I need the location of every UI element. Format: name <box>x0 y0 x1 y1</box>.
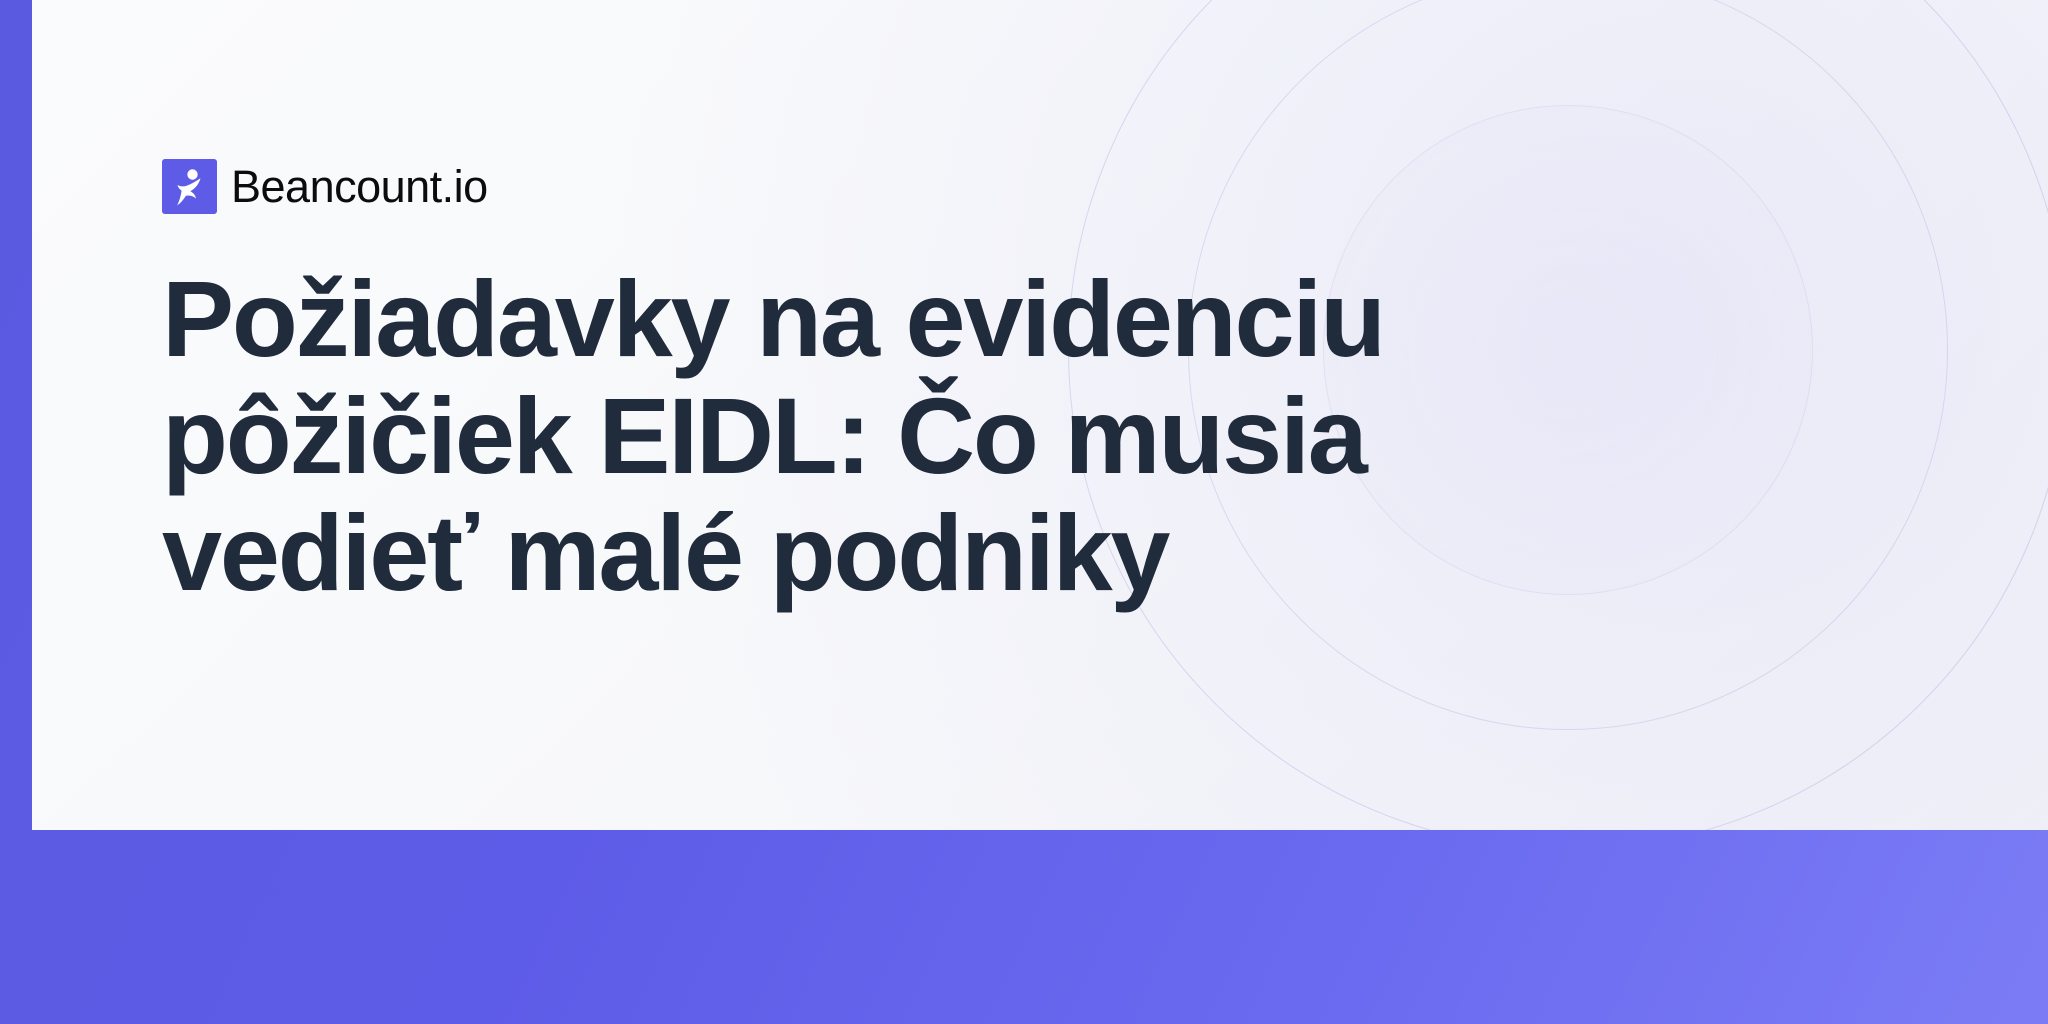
og-image-canvas: Beancount.io Požiadavky na evidenciu pôž… <box>0 0 2048 1024</box>
page-title: Požiadavky na evidenciu pôžičiek EIDL: Č… <box>162 260 1602 612</box>
running-person-logo-icon <box>162 159 217 214</box>
brand-lockup: Beancount.io <box>162 159 1922 214</box>
card-content: Beancount.io Požiadavky na evidenciu pôž… <box>162 0 1922 830</box>
content-card: Beancount.io Požiadavky na evidenciu pôž… <box>32 0 2048 830</box>
brand-name-label: Beancount.io <box>231 164 488 209</box>
